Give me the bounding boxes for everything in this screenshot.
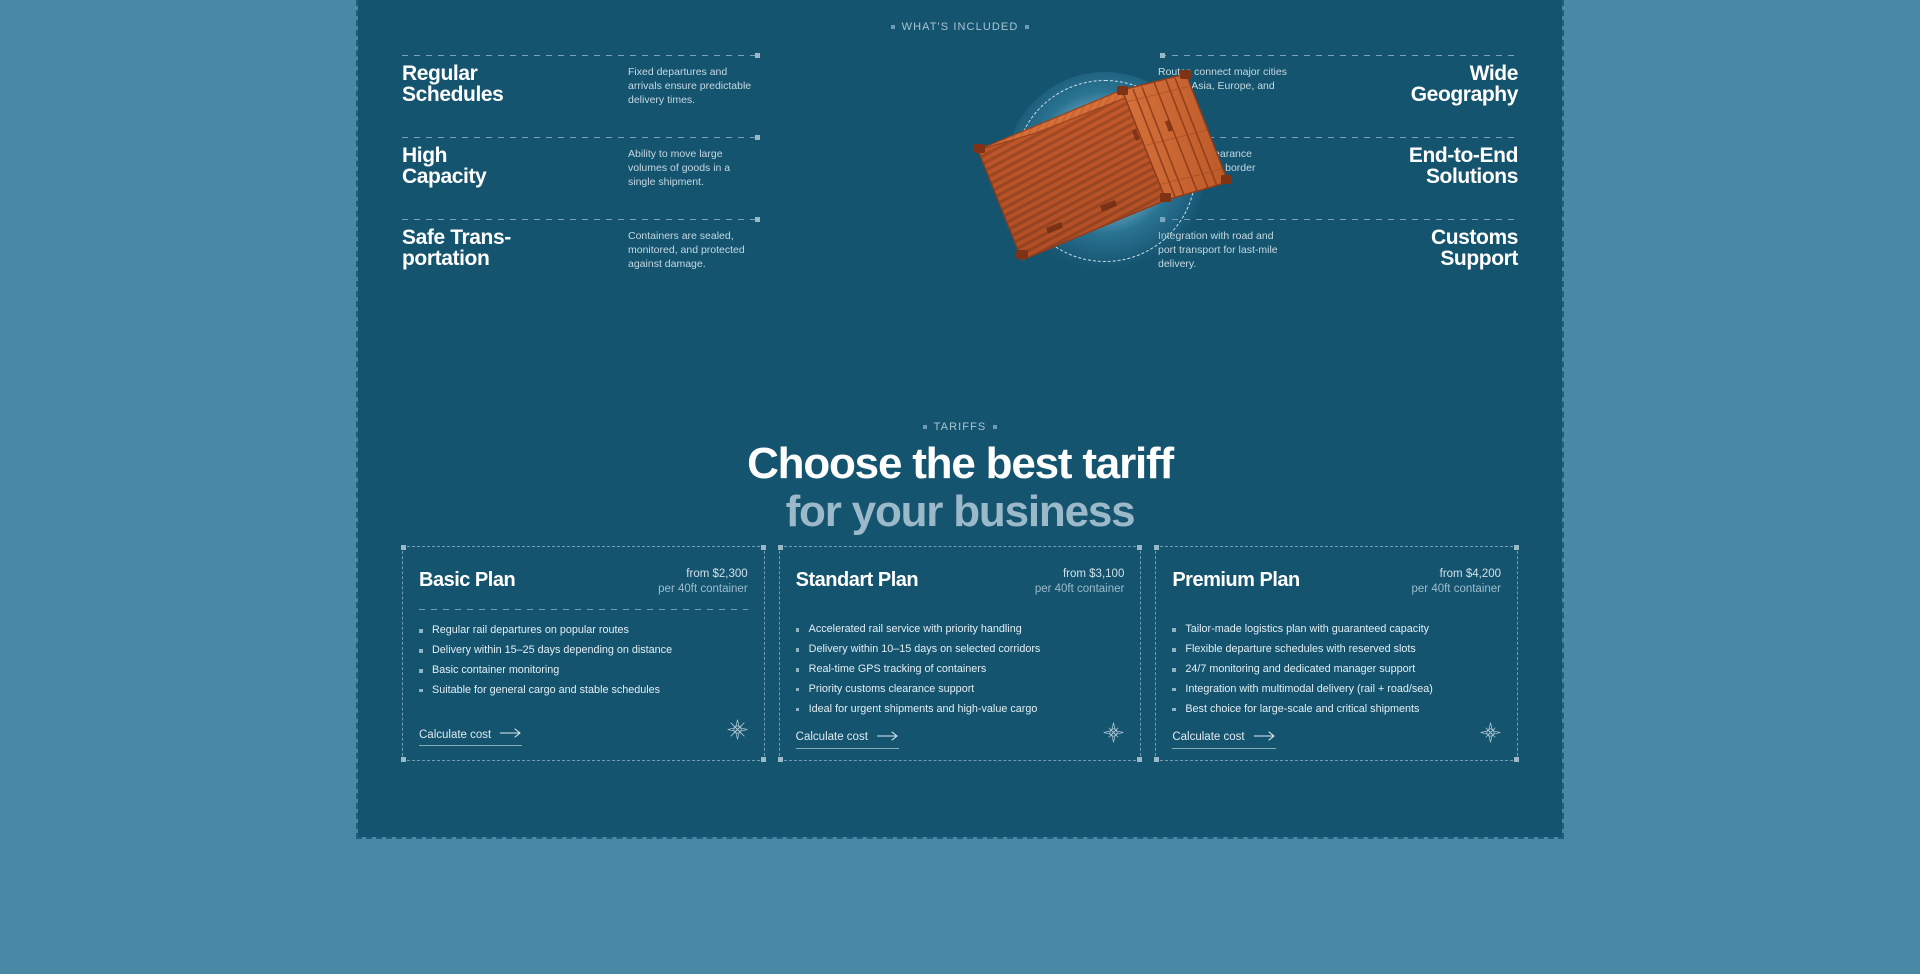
plan-feature-item: Best choice for large-scale and critical… (1172, 702, 1501, 717)
card-corner-marker (761, 545, 766, 550)
feature-description: Fixed departures and arrivals ensure pre… (628, 63, 760, 108)
card-corner-marker (1137, 757, 1142, 762)
card-corner-marker (401, 545, 406, 550)
card-corner-marker (1154, 545, 1159, 550)
square-bullet-icon (993, 425, 997, 429)
feature-title: RegularSchedules (402, 63, 584, 108)
feature-title: HighCapacity (402, 145, 584, 190)
plan-name: Premium Plan (1172, 567, 1299, 590)
plan-feature-item: Tailor-made logistics plan with guarante… (1172, 622, 1501, 637)
calculate-cost-label: Calculate cost (1172, 731, 1244, 743)
plan-feature-item: Suitable for general cargo and stable sc… (419, 683, 748, 698)
card-corner-marker (1514, 545, 1519, 550)
card-corner-marker (1514, 757, 1519, 762)
arrow-right-icon (1254, 731, 1276, 744)
heading-line-1: Choose the best tariff (747, 439, 1173, 488)
plan-feature-item: Accelerated rail service with priority h… (796, 622, 1125, 637)
feature-title: Safe Trans-portation (402, 227, 584, 272)
plan-feature-item: Regular rail departures on popular route… (419, 623, 748, 638)
plan-price-from: from $3,100 (1035, 567, 1125, 582)
plan-card-basic[interactable]: Basic Plan from $2,300 per 40ft containe… (402, 546, 765, 761)
plan-price-unit: per 40ft container (1412, 582, 1502, 597)
plan-feature-item: Delivery within 10–15 days on selected c… (796, 642, 1125, 657)
features-grid: RegularSchedules Fixed departures and ar… (358, 55, 1562, 305)
container-3d-icon (970, 50, 1240, 290)
square-bullet-icon (1025, 25, 1029, 29)
plan-price-unit: per 40ft container (1035, 582, 1125, 597)
feature-item-regular-schedules: RegularSchedules Fixed departures and ar… (402, 55, 760, 137)
feature-item-safe-transportation: Safe Trans-portation Containers are seal… (402, 219, 760, 301)
plan-feature-item: 24/7 monitoring and dedicated manager su… (1172, 662, 1501, 677)
square-bullet-icon (923, 425, 927, 429)
feature-title: WideGeography (1336, 63, 1518, 108)
plan-feature-list: Tailor-made logistics plan with guarante… (1172, 622, 1501, 721)
feature-title: CustomsSupport (1336, 227, 1518, 272)
calculate-cost-link[interactable]: Calculate cost (419, 728, 522, 746)
card-corner-marker (1154, 757, 1159, 762)
card-corner-marker (1137, 545, 1142, 550)
whats-included-eyebrow: WHAT'S INCLUDED (358, 21, 1562, 33)
plan-feature-item: Integration with multimodal delivery (ra… (1172, 682, 1501, 697)
plan-card-premium[interactable]: Premium Plan from $4,200 per 40ft contai… (1155, 546, 1518, 761)
feature-description: Containers are sealed, monitored, and pr… (628, 227, 760, 272)
plan-feature-list: Regular rail departures on popular route… (419, 623, 748, 702)
arrow-right-icon (877, 731, 899, 744)
plan-card-standart[interactable]: Standart Plan from $3,100 per 40ft conta… (779, 546, 1142, 761)
plan-feature-item: Ideal for urgent shipments and high-valu… (796, 702, 1125, 717)
plan-feature-item: Basic container monitoring (419, 663, 748, 678)
content-panel: WHAT'S INCLUDED RegularSchedules Fixed d… (358, 0, 1562, 837)
plan-price-unit: per 40ft container (658, 582, 748, 597)
feature-divider (402, 137, 760, 138)
plan-feature-item: Priority customs clearance support (796, 682, 1125, 697)
pricing-plans-row: Basic Plan from $2,300 per 40ft containe… (402, 546, 1518, 761)
plan-price: from $4,200 per 40ft container (1412, 567, 1502, 596)
arrow-right-icon (500, 728, 522, 741)
feature-divider (402, 55, 760, 56)
calculate-cost-label: Calculate cost (419, 729, 491, 741)
calculate-cost-label: Calculate cost (796, 731, 868, 743)
compass-rose-icon (1480, 722, 1501, 748)
feature-item-high-capacity: HighCapacity Ability to move large volum… (402, 137, 760, 219)
feature-title: End-to-EndSolutions (1336, 145, 1518, 190)
tariffs-heading: Choose the best tariff for your business (358, 440, 1562, 535)
card-corner-marker (761, 757, 766, 762)
compass-rose-icon (727, 719, 748, 745)
compass-rose-icon (1103, 722, 1124, 748)
whats-included-label: WHAT'S INCLUDED (902, 21, 1019, 33)
divider-endcap-marker (755, 217, 760, 222)
plan-price: from $3,100 per 40ft container (1035, 567, 1125, 596)
divider-endcap-marker (755, 135, 760, 140)
plan-feature-item: Flexible departure schedules with reserv… (1172, 642, 1501, 657)
divider-endcap-marker (755, 53, 760, 58)
calculate-cost-link[interactable]: Calculate cost (1172, 731, 1275, 749)
plan-name: Basic Plan (419, 567, 515, 590)
tariffs-eyebrow: TARIFFS (358, 421, 1562, 433)
card-corner-marker (778, 757, 783, 762)
plan-feature-list: Accelerated rail service with priority h… (796, 622, 1125, 721)
tariffs-label: TARIFFS (934, 421, 987, 433)
plan-divider (419, 609, 748, 610)
card-corner-marker (778, 545, 783, 550)
plan-price-from: from $2,300 (658, 567, 748, 582)
plan-price: from $2,300 per 40ft container (658, 567, 748, 596)
square-bullet-icon (891, 25, 895, 29)
feature-description: Ability to move large volumes of goods i… (628, 145, 760, 190)
heading-line-2: for your business (358, 488, 1562, 536)
plan-name: Standart Plan (796, 567, 918, 590)
plan-feature-item: Delivery within 15–25 days depending on … (419, 643, 748, 658)
calculate-cost-link[interactable]: Calculate cost (796, 731, 899, 749)
feature-divider (402, 219, 760, 220)
shipping-container-illustration (970, 50, 1240, 290)
plan-price-from: from $4,200 (1412, 567, 1502, 582)
card-corner-marker (401, 757, 406, 762)
plan-feature-item: Real-time GPS tracking of containers (796, 662, 1125, 677)
